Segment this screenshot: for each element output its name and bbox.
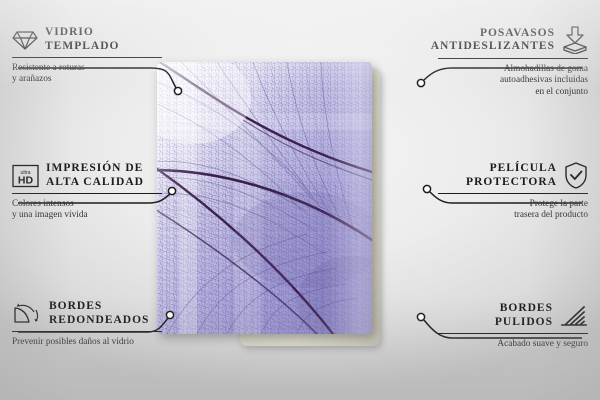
rounded-corner-icon [12, 302, 42, 326]
diamond-icon [12, 29, 38, 51]
shield-check-icon [564, 162, 588, 189]
infographic-canvas: VIDRIO TEMPLADO Resistente a roturas y a… [0, 0, 600, 400]
feature-description: Almohadillas de goma autoadhesivas inclu… [438, 64, 588, 98]
divider [12, 193, 162, 194]
feature-bordes-pulidos: BORDES PULIDOS Acabado suave y seguro [438, 302, 588, 350]
ultra-hd-icon-main: HD [18, 174, 34, 186]
feature-description: Colores intensos y una imagen vívida [12, 199, 162, 222]
feature-title: PELÍCULA PROTECTORA [466, 162, 557, 189]
divider [12, 57, 162, 58]
ultra-hd-icon: ultra HD [12, 164, 39, 188]
leaf-vein-artwork [157, 62, 372, 334]
feature-description: Resistente a roturas y arañazos [12, 63, 162, 86]
feature-title: BORDES PULIDOS [495, 302, 553, 329]
feature-title: VIDRIO TEMPLADO [45, 26, 119, 53]
divider [12, 331, 162, 332]
divider [438, 58, 588, 59]
feature-pelicula-protectora: PELÍCULA PROTECTORA Protege la parte tra… [438, 162, 588, 222]
feature-bordes-redondeados: BORDES REDONDEADOS Prevenir posibles dañ… [12, 300, 162, 348]
feature-impresion-alta-calidad: ultra HD IMPRESIÓN DE ALTA CALIDAD Color… [12, 162, 162, 222]
feature-title: IMPRESIÓN DE ALTA CALIDAD [46, 162, 144, 189]
anti-slip-pad-icon [562, 26, 588, 54]
divider [438, 333, 588, 334]
feature-posavasos-antideslizantes: POSAVASOS ANTIDESLIZANTES Almohadillas d… [438, 26, 588, 98]
feature-description: Acabado suave y seguro [438, 339, 588, 350]
product-image [155, 60, 445, 350]
feature-vidrio-templado: VIDRIO TEMPLADO Resistente a roturas y a… [12, 26, 162, 86]
feature-description: Prevenir posibles daños al vidrio [12, 337, 162, 348]
glass-board-front [157, 62, 372, 334]
feature-title: POSAVASOS ANTIDESLIZANTES [431, 27, 555, 54]
polished-edge-icon [560, 304, 588, 328]
divider [438, 193, 588, 194]
feature-title: BORDES REDONDEADOS [49, 300, 149, 327]
feature-description: Protege la parte trasera del producto [438, 199, 588, 222]
